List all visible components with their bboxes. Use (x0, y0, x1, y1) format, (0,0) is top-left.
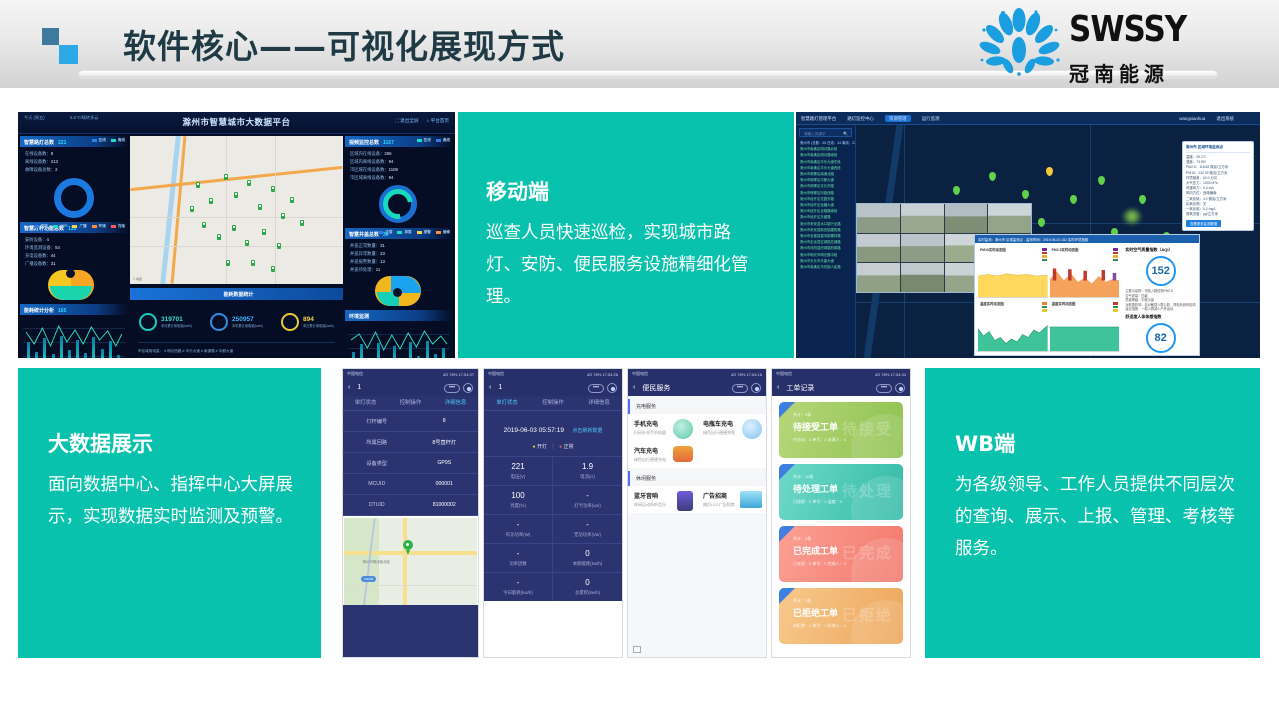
company-logo: SWSSY 冠南能源 (973, 6, 1223, 80)
metric-cell: 0总累积(kw/h) (553, 573, 622, 601)
metric-cell: 0本期能耗(kw/h) (553, 544, 622, 573)
camera-tile[interactable] (901, 234, 944, 263)
row-key: 设备类型 (343, 460, 411, 467)
metric-value: - (484, 578, 552, 587)
metric-label: 电流(A) (553, 474, 622, 480)
camera-tile[interactable] (857, 204, 900, 233)
kv-key: 井盖报警数量： (350, 259, 380, 264)
panel-bigdata-title: 大数据展示 (48, 428, 295, 458)
metric-label: 无功功率(Var) (553, 532, 622, 538)
metric-value: - (484, 520, 552, 529)
phone-charging-icon (673, 419, 693, 439)
panel-web-body: 为各级领导、工作人员提供不同层次的查询、展示、上报、管理、考核等服务。 (955, 469, 1236, 565)
row-value: 000001 (411, 481, 479, 487)
phone-nav-title: 工单记录 (786, 383, 814, 393)
section-legend: 在线离线 (412, 138, 450, 143)
section-value: 1167 (383, 140, 394, 146)
kv-val: 4 (46, 237, 48, 242)
kv-key: 离线设备数： (25, 159, 51, 164)
work-order-card-rejected[interactable]: 已拒绝 已拒绝 共计：3条 已拒绝工单 待拒绝：0 单号：0 拒绝人：0 (779, 588, 903, 644)
metric-value: 100 (484, 491, 552, 500)
service-item[interactable]: 手机充电 扫码外充手机电量 (628, 414, 697, 441)
metric-label: 亮度(%) (484, 503, 552, 509)
kv-row: 安防设备：4 (20, 236, 128, 244)
tab-lamp-status[interactable]: 单灯状态 (343, 396, 388, 410)
metric-value: 0 (553, 549, 622, 558)
ebike-charging-icon (742, 419, 762, 439)
phone-convenience-services: 中国电信 4G 78% 17:54:16 ‹ 便民服务 ••• 充电服务 手机充… (627, 368, 767, 658)
more-icon[interactable]: ••• (588, 384, 604, 393)
section-label: 智慧路灯总数 (24, 140, 54, 146)
status-bar: 中国电信 4G 78% 17:54:26 (484, 369, 622, 379)
phone-nav-actions[interactable]: ••• (732, 383, 761, 393)
metric-label: 电压(V) (484, 474, 552, 480)
aqi-metric1-desc: 主要污染物：可吸入颗粒物PM2.5 空气质量：四级 质量等级：中度污染 对健康影… (1125, 289, 1196, 312)
donut-chart-video (345, 182, 453, 226)
kv-val: 94 (389, 175, 394, 180)
table-row: 灯杆编号8 (343, 411, 478, 432)
center-detail-row: 市区域用电量： # 明月西路 # 丰乐大道 # 南谯路 # 中都大道 (138, 342, 335, 357)
kv-val: 1108 (389, 167, 398, 172)
metric-label: 今日能耗(kw/h) (484, 590, 552, 596)
metric-cell: 221电压(V) (484, 457, 553, 486)
corner-ribbon: 待处理 (779, 464, 795, 480)
car-charging-icon (673, 446, 693, 462)
kv-key: 井盖待处理： (350, 267, 376, 272)
gis-platform-screenshot: 智慧路灯管理平台 路灯监控中心 资源管理 运行监测 wangxiaohua 退出… (796, 112, 1260, 358)
kv-val: 213 (51, 159, 58, 164)
aqi-metric1-value: 152 (1146, 256, 1176, 286)
kv-key: 区域内离线设备数： (350, 159, 389, 164)
status-summary: 2019-06-03 05:57:19 点击刷新数据 ● 开灯 | ● 正常 (484, 411, 622, 457)
slide-header: 软件核心——可视化展现方式 (0, 0, 1279, 88)
status-carrier: 中国电信 (632, 371, 648, 377)
kv-row: 区域内在线设备：256 (345, 150, 453, 158)
bluetooth-speaker-icon (677, 491, 693, 511)
camera-tile[interactable] (857, 234, 900, 263)
chart-humidity: 湿度实时动态图 (1050, 300, 1120, 352)
stat-value: 894 (303, 316, 334, 323)
kv-key: 在线设备数： (25, 151, 51, 156)
center-stat: 894 本日累计用电量(kw/h) (272, 304, 343, 340)
metric-value: - (553, 491, 622, 500)
camera-tile[interactable] (857, 263, 900, 292)
kv-row: 广播设备数：31 (20, 260, 128, 268)
row-value: 8 (411, 418, 479, 424)
metric-label: 总累积(kw/h) (553, 590, 622, 596)
dashboard-title: 滁州市智慧城市大数据平台 (182, 116, 290, 128)
row-key: 所属回路 (343, 439, 411, 446)
kv-val: 256 (384, 151, 391, 156)
status-indicators: 4G 78% 17:54:16 (731, 372, 762, 377)
service-grid-leisure: 蓝牙音响 休闲运动听听音乐 广告招商 路灯LED广告招商 (628, 486, 766, 513)
stat-label: 本日累计用电量(kw/h) (303, 323, 334, 328)
gis-nav-item-active[interactable]: 资源管理 (885, 115, 911, 122)
pie-chart-manhole (345, 274, 453, 308)
tab-control[interactable]: 控制操作 (530, 396, 576, 410)
chart-pm10: PM10实时动态图 (978, 246, 1048, 298)
stat-value: 250957 (232, 316, 263, 323)
panel-mobile: 移动端 巡查人员快速巡检，实现城市路灯、安防、便民服务设施精细化管理。 (458, 112, 794, 358)
work-order-card-completed[interactable]: 已完成 已完成 共计：2条 已完成工单 已派发：0 单号：0 完成人：0 (779, 526, 903, 582)
camera-tile[interactable] (945, 204, 988, 233)
phone-navbar: ‹ 1 ••• (343, 379, 478, 396)
status-bar: 中国电信 4G 78% 17:54:37 (343, 369, 478, 379)
phone-map[interactable]: 滁州市明月路北段 N0108 腾讯地图 (344, 518, 477, 611)
donut-chart-streetlight (54, 178, 94, 218)
bigdata-dashboard-screenshot: 今天 (周五) 5.6℃/晴转多云 滁州市智慧城市大数据平台 ⛶ 退出全屏⌂ 平… (18, 112, 455, 358)
metric-label: 有功功率(W) (484, 532, 552, 538)
kv-key: 井盖正常数量： (350, 243, 380, 248)
status-bar: 中国电信 4G 78% 17:54:34 (772, 369, 910, 379)
dashboard-topbar-actions[interactable]: ⛶ 退出全屏⌂ 平台首页 (388, 118, 449, 124)
back-icon[interactable]: ‹ (489, 384, 491, 391)
tab-control[interactable]: 控制操作 (388, 396, 433, 410)
aqi-metrics: 实时空气质量指数（AQI） 152 主要污染物：可吸入颗粒物PM2.5 空气质量… (1122, 243, 1199, 355)
phone-nav-actions[interactable]: ••• (444, 383, 473, 393)
kv-key: 广播设备数： (25, 261, 51, 266)
kv-val: 31 (380, 243, 385, 248)
logo-cn-text: 冠南能源 (1069, 58, 1186, 87)
back-icon[interactable]: ‹ (348, 384, 350, 391)
row-value: GP9S (411, 460, 479, 466)
camera-tile[interactable] (901, 204, 944, 233)
metric-value: - (553, 520, 622, 529)
section-header-pole-functions: 智慧灯杆功能总数133 安防WIFI广播环境充电 (20, 222, 128, 233)
kv-row: 区域内离线设备数：94 (345, 158, 453, 166)
phone-streetlight-detail: 中国电信 4G 78% 17:54:37 ‹ 1 ••• 单灯状态 控制操作 详… (342, 368, 479, 658)
phone-nav-title: 便民服务 (642, 383, 670, 393)
state-on-label: 开灯 (537, 444, 547, 450)
more-icon[interactable]: ••• (732, 384, 748, 393)
panel-mobile-title: 移动端 (486, 176, 764, 206)
stat-value: 319701 (161, 316, 192, 323)
popup-link[interactable]: 查看更多监测数据 (1186, 220, 1250, 227)
kv-row: 离线设备数：213 (20, 158, 128, 166)
kv-val: 54 (55, 245, 60, 250)
tab-lamp-status[interactable]: 单灯状态 (484, 396, 530, 410)
camera-tile[interactable] (901, 263, 944, 292)
aqi-chart-grid: PM10实时动态图 PM2.5实时动态图 (975, 243, 1122, 355)
popup-row: 臭氧浓度：μg/立方米 (1186, 212, 1250, 217)
aqi-metric1-title: 实时空气质量指数（AQI） (1125, 247, 1196, 253)
search-icon[interactable]: 🔍 (843, 131, 848, 136)
metric-value: 221 (484, 462, 552, 471)
metric-cell: -灯亏功率(var) (553, 486, 622, 515)
kv-key: 井盖异常数量： (350, 251, 380, 256)
kv-key: 市区域在线设备数： (350, 167, 389, 172)
status-timestamp: 2019-06-03 05:57:19 (504, 427, 564, 434)
ribbon-label: 待处理 (779, 464, 782, 478)
gis-nav-right[interactable]: wangxiaohua 退出系统 (1179, 116, 1244, 122)
phone-nav-title: 1 (357, 384, 361, 391)
corner-ribbon: 已拒绝 (779, 588, 795, 604)
section-legend: 在线离线 (87, 138, 125, 143)
metric-value: - (484, 549, 552, 558)
dashboard-left-column: 智慧路灯总数221 在线离线 在线设备数：8 离线设备数：213 故障设备总数：… (20, 136, 128, 356)
kv-key: 环境监测设备： (25, 245, 55, 250)
metric-grid: 221电压(V) 1.9电流(A) 100亮度(%) -灯亏功率(var) -有… (484, 457, 622, 601)
close-icon[interactable] (751, 383, 761, 393)
phone-tabs[interactable]: 单灯状态 控制操作 详细信息 (343, 396, 478, 411)
corner-ribbon: 已完成 (779, 526, 795, 542)
row-value: 81000002 (411, 502, 479, 508)
gis-search-input[interactable]: 请输入关键字 🔍 (799, 128, 852, 137)
status-indicators: 4G 78% 17:54:26 (587, 372, 618, 377)
kv-row: 市区域离线设备数：94 (345, 174, 453, 182)
section-header-manhole: 智慧井盖总数36 正常异常报警维修 (345, 228, 453, 239)
dashboard-weather: 5.6℃/晴转多云 (70, 115, 98, 121)
kv-row: 环境监测设备：54 (20, 244, 128, 252)
kv-val: 23 (380, 251, 385, 256)
metric-label: 功率因数 (484, 561, 552, 567)
aqi-metric2-value: 82 (1146, 323, 1176, 353)
status-carrier: 中国电信 (488, 371, 504, 377)
kv-val: 31 (51, 261, 56, 266)
kv-val: 2 (55, 167, 57, 172)
chart-title: 湿度实时动态图 (1050, 300, 1120, 306)
lamp-on-icon: ● (533, 444, 536, 450)
status-carrier: 中国电信 (347, 371, 363, 377)
center-stat: 250957 本年累计用电量(kw/h) (201, 304, 272, 340)
gis-logout[interactable]: 退出系统 (1216, 116, 1234, 121)
aqi-panel-body: PM10实时动态图 PM2.5实时动态图 (975, 243, 1199, 355)
kv-row: 市区域在线设备数：1108 (345, 166, 453, 174)
section-label: 环境监测 (349, 314, 369, 320)
phone-work-orders: 中国电信 4G 78% 17:54:34 ‹ 工单记录 ••• 待接受 待接受 … (771, 368, 911, 658)
gis-sidebar: 请输入关键字 🔍 滁州市 (总数：66 在线：44 离线：22) 滁州市南谯区明… (796, 125, 856, 358)
center-stat-row: 319701 本月累计用电量(kw/h) 250957 本年累计用电量(kw/h… (130, 304, 343, 340)
metric-value: 1.9 (553, 462, 622, 471)
status-bar: 中国电信 4G 78% 17:54:16 (628, 369, 766, 379)
kv-key: 故障设备总数： (25, 167, 55, 172)
sensor-info-popup[interactable]: 滁州市 区域环境监测点 温度：25.2℃ 湿度：73.5% PM2.5：118.… (1182, 141, 1254, 231)
corner-ribbon: 待接受 (779, 402, 795, 418)
phone-tabs[interactable]: 单灯状态 控制操作 详细信息 (484, 396, 622, 411)
table-row: 设备类型GP9S (343, 453, 478, 474)
back-icon[interactable]: ‹ (633, 384, 635, 391)
phone-navbar: ‹ 1 ••• (484, 379, 622, 396)
tab-details[interactable]: 详细信息 (576, 396, 622, 410)
kv-val: 11 (376, 267, 380, 272)
gis-nav-item[interactable]: 运行监测 (922, 116, 940, 121)
phone-streetlight-status: 中国电信 4G 78% 17:54:26 ‹ 1 ••• 单灯状态 控制操作 详… (483, 368, 623, 658)
aqi-metric2-title: 舒适度人体体感指数 (1125, 314, 1196, 320)
dashboard-right-column: 视频监控总数1167 在线离线 区域内在线设备：256 区域内离线设备数：94 … (345, 136, 453, 356)
map-badge: N0108 (361, 576, 376, 582)
gis-brand: 智慧路灯管理平台 (801, 116, 836, 121)
kv-key: 市区域离线设备数： (350, 175, 389, 180)
slide-root: 软件核心——可视化展现方式 (0, 0, 1279, 720)
close-icon[interactable] (895, 383, 905, 393)
status-indicators: 4G 78% 17:54:37 (443, 372, 474, 377)
metric-cell: -功率因数 (484, 544, 553, 573)
state-alarm-label: 正常 (563, 444, 573, 450)
kv-row: 井盖待处理：11 (345, 266, 453, 274)
more-icon[interactable]: ••• (444, 384, 460, 393)
camera-tile[interactable] (988, 204, 1031, 233)
table-row: 所属回路8号直杆灯 (343, 432, 478, 453)
popup-link-label: 查看更多监测数据 (1186, 220, 1221, 227)
logo-text: SWSSY 冠南能源 (1069, 10, 1186, 87)
metric-cell: -无功功率(Var) (553, 515, 622, 544)
chart-temperature: 温度实时动态图 (978, 300, 1048, 352)
kv-row: 故障设备总数：2 (20, 166, 128, 174)
table-row: MCUID000001 (343, 474, 478, 495)
kv-row: 井盖报警数量：13 (345, 258, 453, 266)
section-header-video: 视频监控总数1167 在线离线 (345, 136, 453, 147)
ghost-text: 待接受 (842, 418, 893, 439)
kv-row: 井盖正常数量：31 (345, 242, 453, 250)
stat-label: 本月累计用电量(kw/h) (161, 323, 192, 328)
phone-nav-title: 1 (498, 384, 502, 391)
bar-line-chart-energy: 1月2月3月4月5月6月7月8月9月10月11月12月 (23, 318, 125, 358)
section-label: 能耗统计分析 (24, 308, 54, 314)
phone-nav-actions[interactable]: ••• (876, 383, 905, 393)
panel-bigdata: 大数据展示 面向数据中心、指挥中心大屏展示，实现数据实时监测及预警。 (18, 368, 321, 658)
metric-cell: 100亮度(%) (484, 486, 553, 515)
metric-cell: 1.9电流(A) (553, 457, 622, 486)
panel-bigdata-body: 面向数据中心、指挥中心大屏展示，实现数据实时监测及预警。 (48, 469, 295, 533)
tree-item[interactable]: 滁州市南谯区乌衣镇人民路 (796, 264, 855, 270)
logo-en-text: SWSSY (1069, 10, 1186, 49)
row-key: MCUID (343, 481, 411, 487)
gis-user[interactable]: wangxiaohua (1179, 116, 1205, 121)
stat-label: 本年累计用电量(kw/h) (232, 323, 263, 328)
work-order-card-pending-process[interactable]: 待处理 待处理 共计：10条 待处理工单 已接收：0 单号：0 温度：0 (779, 464, 903, 520)
kv-key: 充电设备数： (25, 253, 51, 258)
detail-table: 灯杆编号8 所属回路8号直杆灯 设备类型GP9S MCUID000001 DTU… (343, 411, 478, 516)
ghost-text: 待处理 (842, 480, 893, 501)
service-item[interactable]: 广告招商 路灯LED广告招商 (697, 486, 766, 513)
metric-value: 0 (553, 578, 622, 587)
work-order-card-pending-accept[interactable]: 待接受 待接受 共计：3条 待接受工单 任务派：0 单号：0 派遣人：0 (779, 402, 903, 458)
dashboard-center-column: © 地图 能耗数据统计 319701 本月累计用电量(kw/h) 250957 … (130, 136, 343, 356)
kv-val: 8 (51, 151, 53, 156)
center-section-header: 能耗数据统计 (130, 288, 343, 300)
panel-web: WB端 为各级领导、工作人员提供不同层次的查询、展示、上报、管理、考核等服务。 (925, 368, 1260, 658)
service-grid-charging: 手机充电 扫码外充手机电量 电瓶车充电 绿色出行便捷充电 汽车充电 绿色出行便捷… (628, 414, 766, 468)
metric-label: 灯亏功率(var) (553, 503, 622, 509)
ribbon-label: 已拒绝 (779, 588, 782, 602)
decorative-squares (42, 28, 82, 68)
close-icon[interactable] (607, 383, 617, 393)
panel-mobile-body: 巡查人员快速巡检，实现城市路灯、安防、便民服务设施精细化管理。 (486, 217, 764, 313)
section-title-leisure: 休闲服务 (628, 471, 766, 486)
dashboard-topbar: 今天 (周五) 5.6℃/晴转多云 滁州市智慧城市大数据平台 ⛶ 退出全屏⌂ 平… (18, 112, 455, 134)
more-icon[interactable]: ••• (876, 384, 892, 393)
section-value: 221 (58, 140, 66, 146)
chart-title: 温度实时动态图 (978, 300, 1048, 306)
tab-details[interactable]: 详细信息 (433, 396, 478, 410)
section-header-environment: 环境监测 (345, 310, 453, 321)
section-legend: 安防WIFI广播环境充电 (29, 224, 125, 229)
metric-cell: -今日能耗(kw/h) (484, 573, 553, 601)
panel-web-title: WB端 (955, 428, 1236, 458)
advertising-icon (740, 491, 762, 508)
close-icon[interactable] (463, 383, 473, 393)
kv-row: 井盖异常数量：23 (345, 250, 453, 258)
kv-key: 安防设备： (25, 237, 46, 242)
popup-title: 滁州市 区域环境监测点 (1186, 145, 1250, 153)
phone-navbar: ‹ 工单记录 ••• (772, 379, 910, 396)
section-value: 165 (58, 308, 66, 314)
section-legend: 正常异常报警维修 (373, 230, 450, 235)
section-header-energy: 能耗统计分析165 (20, 304, 128, 315)
ribbon-label: 待接受 (779, 402, 782, 416)
row-key: 灯杆编号 (343, 418, 411, 425)
center-stat: 319701 本月累计用电量(kw/h) (130, 304, 201, 340)
kv-key: 区域内在线设备： (350, 151, 384, 156)
service-item[interactable]: 汽车充电 绿色出行便捷充电 (628, 441, 697, 468)
air-quality-panel[interactable]: 实时监测：滁州市 区域监测点 - 监测时间：2019-06-03 152 实时环… (974, 234, 1200, 356)
bar-line-chart-environment (348, 324, 450, 358)
kv-val: 44 (51, 253, 56, 258)
dashboard-clock: 今天 (周五) (24, 115, 45, 121)
kv-val: 94 (389, 159, 394, 164)
gis-navbar[interactable]: 智慧路灯管理平台 路灯监控中心 资源管理 运行监测 wangxiaohua 退出… (796, 112, 1260, 125)
table-row: DTUID81000002 (343, 495, 478, 516)
chart-pm25: PM2.5实时动态图 (1050, 246, 1120, 298)
section-label: 视频监控总数 (349, 140, 379, 146)
chart-title: PM2.5实时动态图 (1050, 246, 1120, 252)
back-icon[interactable]: ‹ (777, 384, 779, 391)
row-key: DTUID (343, 502, 411, 508)
kv-row: 充电设备数：44 (20, 252, 128, 260)
gis-nav-item[interactable]: 路灯监控中心 (847, 116, 873, 121)
city-map[interactable]: © 地图 (130, 136, 343, 284)
service-item[interactable]: 蓝牙音响 休闲运动听听音乐 (628, 486, 697, 513)
phone-navbar: ‹ 便民服务 ••• (628, 379, 766, 396)
aqi-panel-titlebar: 实时监测：滁州市 区域监测点 - 监测时间：2019-06-03 152 实时环… (975, 235, 1199, 243)
section-header-streetlight-total: 智慧路灯总数221 在线离线 (20, 136, 128, 147)
ghost-text: 已拒绝 (842, 604, 893, 625)
phone-nav-actions[interactable]: ••• (588, 383, 617, 393)
center-section-label: 能耗数据统计 (223, 292, 253, 298)
ghost-text: 已完成 (842, 542, 893, 563)
page-title: 软件核心——可视化展现方式 (123, 20, 565, 68)
kv-val: 13 (380, 259, 385, 264)
row-value: 8号直杆灯 (411, 439, 479, 446)
alarm-icon: ● (559, 444, 562, 450)
service-item[interactable]: 电瓶车充电 绿色出行便捷充电 (697, 414, 766, 441)
section-title-charging: 充电服务 (628, 399, 766, 414)
metric-label: 本期能耗(kw/h) (553, 561, 622, 567)
status-carrier: 中国电信 (776, 371, 792, 377)
map-label: 滁州市明月路北段 (363, 559, 390, 564)
square-dark-icon (42, 28, 59, 45)
status-indicators: 4G 78% 17:54:34 (875, 372, 906, 377)
water-droplet-logo-icon (973, 8, 1065, 78)
refresh-link[interactable]: 点击刷新数据 (572, 428, 602, 434)
metric-cell: -有功功率(W) (484, 515, 553, 544)
ribbon-label: 已完成 (779, 526, 782, 540)
kv-row: 在线设备数：8 (20, 150, 128, 158)
pie-chart-pole-functions (20, 268, 128, 302)
chart-title: PM10实时动态图 (978, 246, 1048, 252)
square-blue-icon (59, 45, 78, 64)
